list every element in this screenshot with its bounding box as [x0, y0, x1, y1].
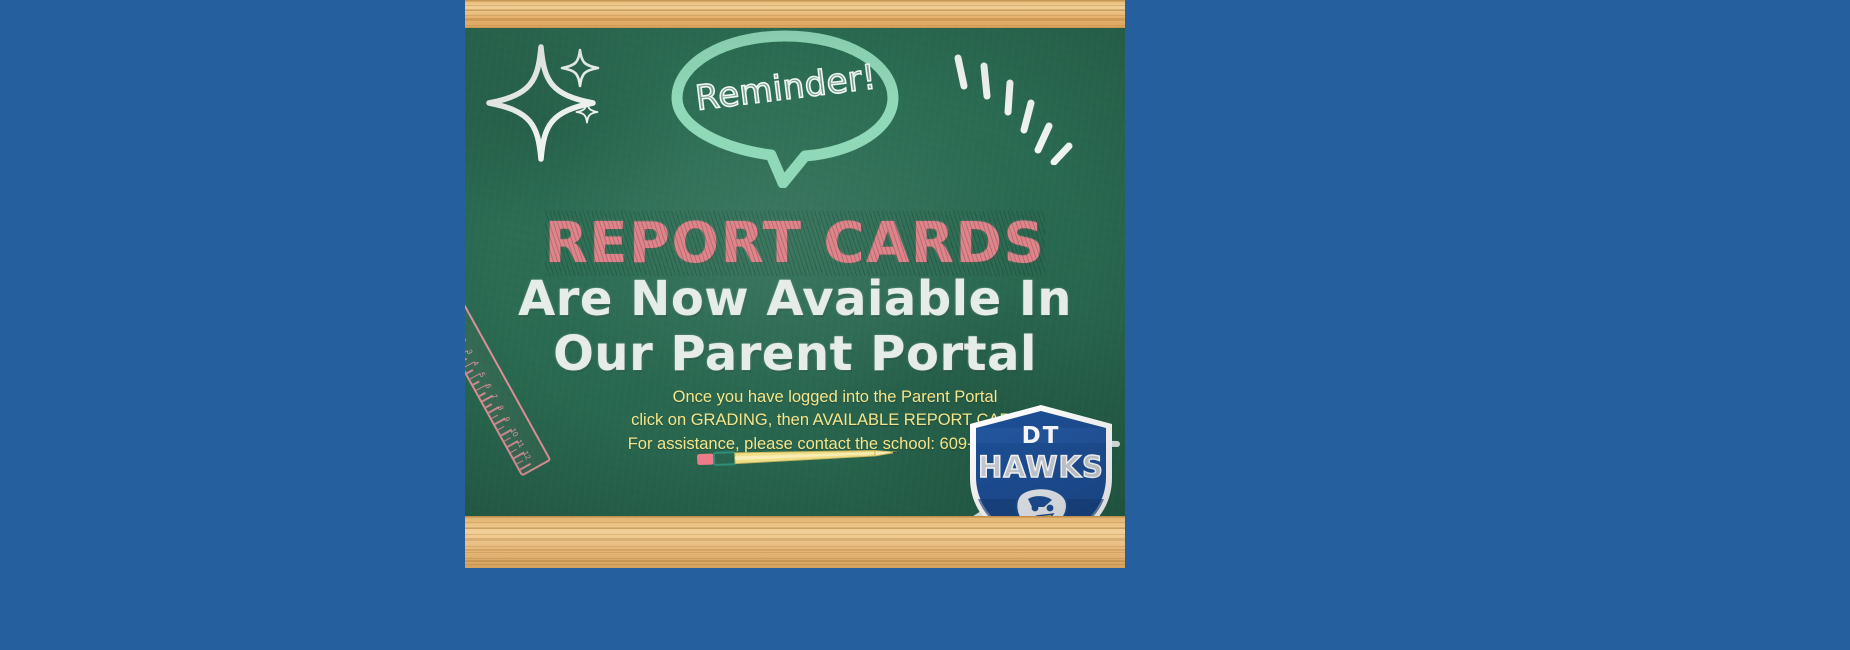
chalkboard-surface: Reminder! REPORT CARDS Are Now Avaiable … — [465, 28, 1125, 516]
wood-frame-bottom — [465, 516, 1125, 568]
sparkle-tiny-icon — [575, 100, 599, 124]
ruler-number: 8 — [496, 404, 506, 412]
subheading-line-2: Our Parent Portal — [465, 329, 1125, 380]
ruler-tick — [498, 426, 505, 431]
wood-frame-top — [465, 0, 1125, 28]
ruler-number: 3 — [465, 348, 475, 356]
ruler-number: 4 — [471, 359, 481, 367]
poster-bottom-fill — [465, 568, 1125, 650]
right-blue-panel — [1125, 0, 1850, 650]
ruler-number: 6 — [483, 382, 493, 390]
page-title: REPORT CARDS — [465, 211, 1125, 276]
hawk-head-icon — [1016, 488, 1067, 516]
logo-dt-text: DT — [1022, 423, 1061, 449]
ruler-number: 7 — [490, 393, 500, 401]
dt-hawks-logo: DT HAWKS — [958, 403, 1125, 516]
headline-text: REPORT CARDS — [545, 211, 1046, 276]
ruler-tick — [491, 414, 498, 419]
ruler-tick — [510, 448, 517, 453]
sparkle-small-icon — [560, 48, 600, 88]
ruler-tick — [504, 437, 511, 442]
ruler-tick — [466, 369, 473, 374]
ruler-tick — [516, 460, 523, 465]
ruler-tick — [479, 392, 486, 397]
left-blue-panel — [0, 0, 465, 650]
subheading-line-1: Are Now Avaiable In — [465, 274, 1125, 325]
ruler-number: 5 — [477, 370, 487, 378]
ruler-number: 2 — [465, 336, 468, 344]
poster-canvas: Reminder! REPORT CARDS Are Now Avaiable … — [0, 0, 1850, 650]
ruler-tick — [465, 358, 467, 363]
reminder-speech-bubble: Reminder! — [665, 28, 905, 188]
chalkboard-poster: Reminder! REPORT CARDS Are Now Avaiable … — [465, 0, 1125, 650]
ruler-tick — [473, 381, 480, 386]
logo-hawks-text: HAWKS — [978, 450, 1104, 484]
subheading: Are Now Avaiable In Our Parent Portal — [465, 274, 1125, 380]
ruler-tick — [485, 403, 492, 408]
ruler-tick — [520, 463, 531, 470]
ruler-number: 9 — [502, 415, 512, 423]
motion-lines-icon — [950, 50, 1095, 165]
